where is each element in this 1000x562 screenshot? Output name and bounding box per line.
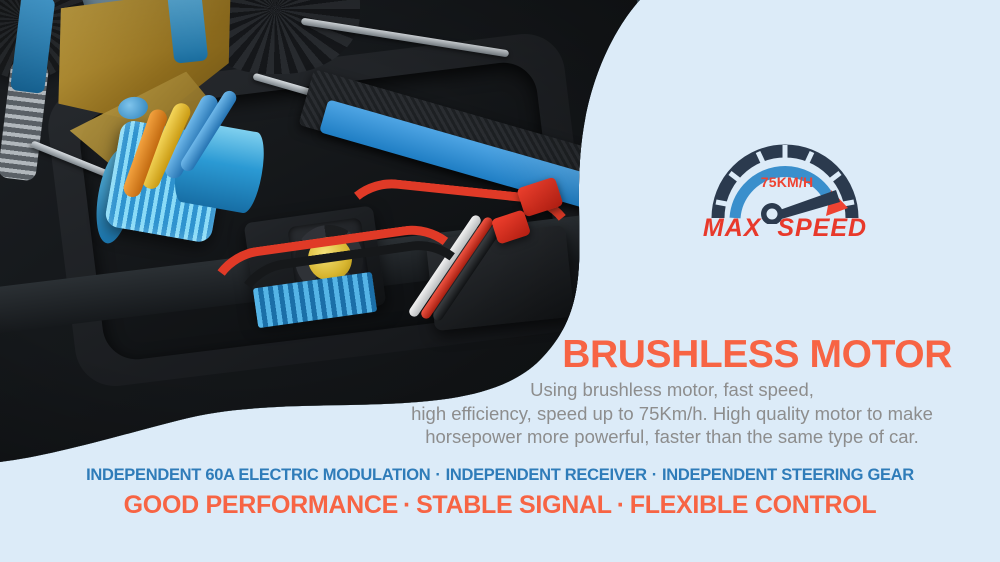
feature-orange-sep-1: · [398, 491, 416, 519]
feature-orange-item-3: FLEXIBLE CONTROL [630, 491, 877, 519]
feature-blue-sep-1: · [430, 466, 445, 484]
feature-line-blue: INDEPENDENT 60A ELECTRIC MODULATION·INDE… [0, 466, 1000, 485]
description-paragraph: Using brushless motor, fast speed, high … [392, 378, 952, 449]
feature-orange-item-1: GOOD PERFORMANCE [124, 491, 398, 519]
max-speed-caption-speed: SPEED [777, 214, 867, 242]
speed-value-label: 75KM/H [747, 174, 827, 190]
description-line-1: Using brushless motor, fast speed, [392, 378, 952, 402]
description-line-3: horsepower more powerful, faster than th… [392, 425, 952, 449]
description-line-2: high efficiency, speed up to 75Km/h. Hig… [392, 402, 952, 426]
feature-blue-item-3: INDEPENDENT STEERING GEAR [662, 466, 914, 484]
max-speed-caption-max: MAX [703, 214, 762, 242]
feature-orange-item-2: STABLE SIGNAL [416, 491, 612, 519]
max-speed-caption: MAX SPEED [690, 214, 880, 243]
feature-orange-sep-2: · [612, 491, 630, 519]
promo-banner: 75KM/H MAX SPEED BRUSHLESS MOTOR Using b… [0, 0, 1000, 562]
max-speed-badge: 75KM/H MAX SPEED [690, 132, 880, 252]
feature-line-orange: GOOD PERFORMANCE·STABLE SIGNAL·FLEXIBLE … [0, 491, 1000, 520]
feature-blue-item-2: INDEPENDENT RECEIVER [446, 466, 647, 484]
feature-blue-item-1: INDEPENDENT 60A ELECTRIC MODULATION [86, 466, 430, 484]
page-title: BRUSHLESS MOTOR [562, 335, 952, 374]
feature-blue-sep-2: · [647, 466, 662, 484]
